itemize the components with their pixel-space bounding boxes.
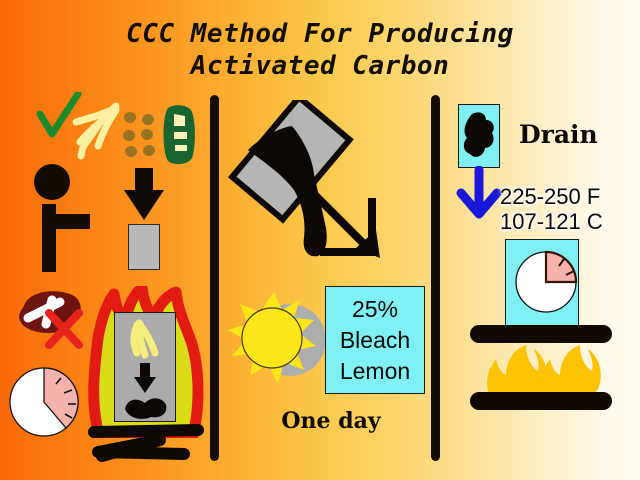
carbon-sample-box [458, 104, 500, 168]
blue-arrow-down-icon [456, 166, 502, 220]
green-pod-icon [160, 104, 198, 166]
panel-divider-right [431, 95, 440, 461]
carbon-blob-icon [121, 395, 169, 419]
gray-container-icon [128, 224, 160, 270]
clock-icon-right [514, 250, 578, 314]
gray-can-icon [114, 312, 176, 422]
coffee-grounds-icon [122, 112, 164, 162]
rack-bar-icon-top [470, 325, 612, 343]
burning-container-group [88, 286, 204, 466]
rack-bar-icon-bottom [470, 392, 612, 410]
arrow-down-icon [122, 168, 166, 220]
page-title: CCC Method For Producing Activated Carbo… [0, 18, 640, 82]
flame-icon [482, 345, 604, 397]
sun-lemon-icon [222, 288, 330, 392]
bleach-solution-box: 25% Bleach Lemon [325, 286, 425, 394]
panel-divider-left [210, 95, 219, 461]
drain-label: Drain [519, 120, 598, 149]
carbon-blob-icon [462, 110, 496, 160]
banana-peel-icon [66, 100, 122, 162]
person-head-icon [34, 164, 70, 200]
temperature-label: 225-250 F 107-121 C [500, 184, 640, 234]
person-icon [28, 164, 90, 272]
bleach-solution-label: 25% Bleach Lemon [326, 287, 424, 387]
rack-scribble-icon [88, 424, 204, 466]
duration-label: One day [256, 408, 406, 434]
drying-time-box [505, 239, 579, 337]
person-arm-icon [50, 214, 90, 229]
poster-canvas: CCC Method For Producing Activated Carbo… [0, 0, 640, 480]
banana-peel-icon [125, 319, 163, 359]
bent-arrow-icon [300, 180, 396, 270]
arrow-down-icon [133, 363, 157, 393]
clock-icon-left [8, 366, 80, 438]
red-x-icon [44, 308, 84, 350]
